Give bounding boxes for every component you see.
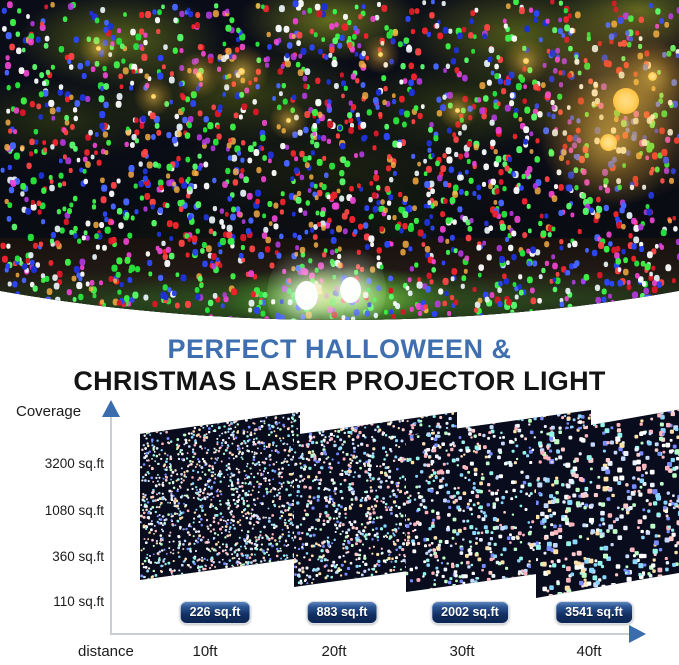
x-axis-tick-label: 10ft [165,643,245,660]
string-light-bulb [523,58,529,64]
laser-dot-layer [0,0,2,3]
projection-panel [536,408,679,598]
coverage-chart: Coverage distance 3200 sq.ft1080 sq.ft36… [0,398,679,665]
projection-panel-group [0,398,679,635]
string-light-bulb [196,72,202,78]
page-title-line-2: CHRISTMAS LASER PROJECTOR LIGHT [0,365,679,397]
string-light-bulb [455,108,460,113]
hero-photo [0,0,679,320]
projector-orb-right [340,277,361,303]
string-light-bulb [648,72,657,81]
string-light-bulb [96,46,101,51]
projected-dot-field [140,412,141,413]
x-axis-tick-label: 30ft [422,643,502,660]
hero-photo-clip [0,0,679,320]
coverage-value-badge: 3541 sq.ft [555,601,633,624]
coverage-value-badge: 2002 sq.ft [431,601,509,624]
projected-dot-field [294,412,295,413]
projected-dot-field [406,410,407,411]
x-axis-title: distance [78,643,134,660]
string-light-bulb [151,94,156,99]
page-title-line-1: PERFECT HALLOWEEN & [0,334,679,365]
x-axis-tick-label: 20ft [294,643,374,660]
string-light-bulb [238,68,245,75]
coverage-value-badge: 883 sq.ft [307,601,378,624]
page-title: PERFECT HALLOWEEN & CHRISTMAS LASER PROJ… [0,334,679,397]
string-light-bulb [378,52,383,57]
string-light-bulb [600,134,617,151]
x-axis-tick-label: 40ft [549,643,629,660]
projected-dot-field [536,408,537,409]
projection-panel [140,412,300,580]
string-light-bulb [286,118,291,123]
coverage-value-badge: 226 sq.ft [180,601,251,624]
